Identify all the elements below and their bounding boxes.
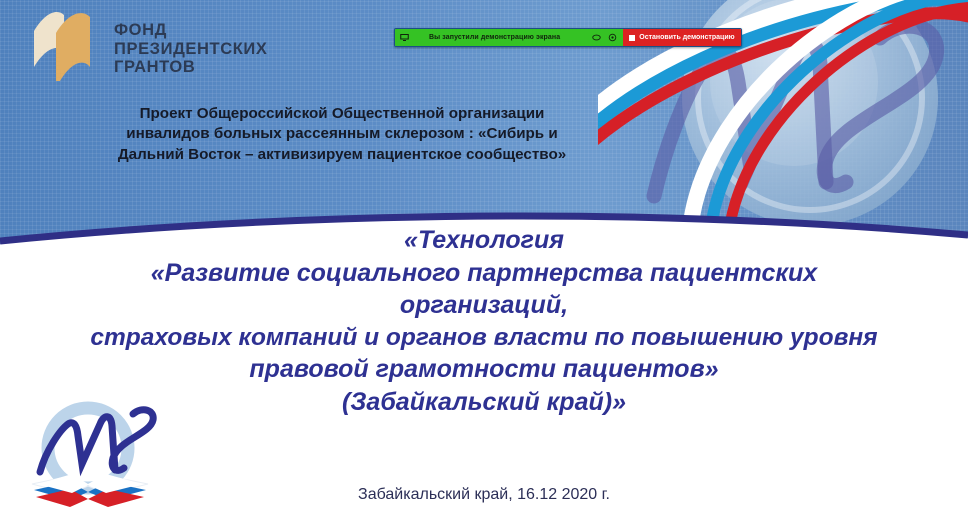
stop-sharing-label: Остановить демонстрацию: [639, 34, 734, 41]
slide-title: «Технология «Развитие социального партне…: [0, 224, 968, 418]
project-description: Проект Общероссийской Общественной орган…: [96, 104, 588, 165]
stop-sharing-button[interactable]: Остановить демонстрацию: [623, 29, 740, 46]
screen-share-toolbar[interactable]: Вы запустили демонстрацию экрана Останов…: [394, 28, 742, 47]
title-line-3: организаций,: [0, 289, 968, 322]
stop-icon: [629, 35, 635, 41]
screen-share-icon: [399, 32, 410, 43]
ms-organization-logo: [16, 398, 166, 510]
settings-icon[interactable]: [607, 32, 618, 43]
share-status-text: Вы запустили демонстрацию экрана: [415, 34, 586, 41]
fund-logo: ФОНД ПРЕЗИДЕНТСКИХ ГРАНТОВ: [28, 6, 328, 92]
title-line-5: правовой грамотности пациентов»: [0, 353, 968, 386]
presentation-slide: ФОНД ПРЕЗИДЕНТСКИХ ГРАНТОВ Проект Общеро…: [0, 0, 968, 510]
title-line-1: «Технология: [0, 224, 968, 257]
title-line-4: страховых компаний и органов власти по п…: [0, 322, 968, 354]
fund-logo-wordmark: ФОНД ПРЕЗИДЕНТСКИХ ГРАНТОВ: [114, 21, 267, 76]
title-line-2: «Развитие социального партнерства пациен…: [0, 257, 968, 290]
fund-logo-line-2: ПРЕЗИДЕНТСКИХ: [114, 40, 267, 58]
fund-logo-line-3: ГРАНТОВ: [114, 58, 267, 76]
hide-icon[interactable]: [591, 32, 602, 43]
fund-logo-line-1: ФОНД: [114, 21, 267, 39]
presidential-grants-fund-mark: [28, 9, 102, 89]
share-status-group: Вы запустили демонстрацию экрана: [395, 29, 623, 46]
